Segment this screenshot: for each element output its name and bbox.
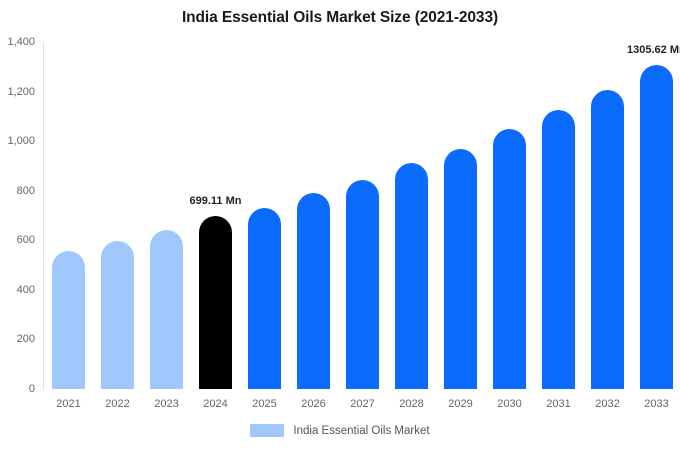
x-axis-tick-label-2028: 2028	[387, 398, 436, 410]
bar-2022[interactable]	[101, 241, 134, 389]
bar-2029[interactable]	[444, 149, 477, 389]
y-axis-tick-label: 0	[0, 383, 35, 395]
plot-area	[44, 42, 676, 389]
bar-2025[interactable]	[248, 208, 281, 389]
x-axis-tick-label-2026: 2026	[289, 398, 338, 410]
x-axis-tick-label-2030: 2030	[485, 398, 534, 410]
bar-2024[interactable]	[199, 216, 232, 389]
chart-legend: India Essential Oils Market	[0, 424, 680, 437]
y-axis-tick-label: 400	[0, 284, 35, 296]
bar-2032[interactable]	[591, 90, 624, 389]
y-axis-tick-label: 1,400	[0, 36, 35, 48]
x-axis-tick-label-2031: 2031	[534, 398, 583, 410]
y-axis-tick-label: 800	[0, 185, 35, 197]
y-axis-tick-label: 200	[0, 333, 35, 345]
bar-2030[interactable]	[493, 129, 526, 389]
legend-label-india-essential-oils-market: India Essential Oils Market	[293, 425, 429, 437]
bar-2021[interactable]	[52, 251, 85, 389]
chart-title: India Essential Oils Market Size (2021-2…	[0, 9, 680, 27]
bar-2027[interactable]	[346, 180, 379, 389]
bar-2026[interactable]	[297, 193, 330, 389]
legend-swatch-india-essential-oils-market	[250, 424, 284, 437]
bar-value-label-2024: 699.11 Mn	[190, 195, 242, 207]
x-axis-tick-label-2027: 2027	[338, 398, 387, 410]
bar-2023[interactable]	[150, 230, 183, 389]
x-axis-tick-label-2025: 2025	[240, 398, 289, 410]
x-axis-tick-label-2022: 2022	[93, 398, 142, 410]
y-axis-tick-label: 1,200	[0, 86, 35, 98]
bar-2033[interactable]	[640, 65, 673, 389]
x-axis-tick-label-2033: 2033	[632, 398, 680, 410]
x-axis-tick-label-2023: 2023	[142, 398, 191, 410]
x-axis-tick-label-2029: 2029	[436, 398, 485, 410]
bar-chart: India Essential Oils Market Size (2021-2…	[0, 0, 680, 450]
x-axis-tick-label-2032: 2032	[583, 398, 632, 410]
x-axis-tick-label-2024: 2024	[191, 398, 240, 410]
bar-2028[interactable]	[395, 163, 428, 389]
y-axis-tick-label: 600	[0, 234, 35, 246]
x-axis-tick-label-2021: 2021	[44, 398, 93, 410]
bar-value-label-2033: 1305.62 Mn	[627, 44, 680, 56]
bar-2031[interactable]	[542, 110, 575, 389]
y-axis-tick-label: 1,000	[0, 135, 35, 147]
